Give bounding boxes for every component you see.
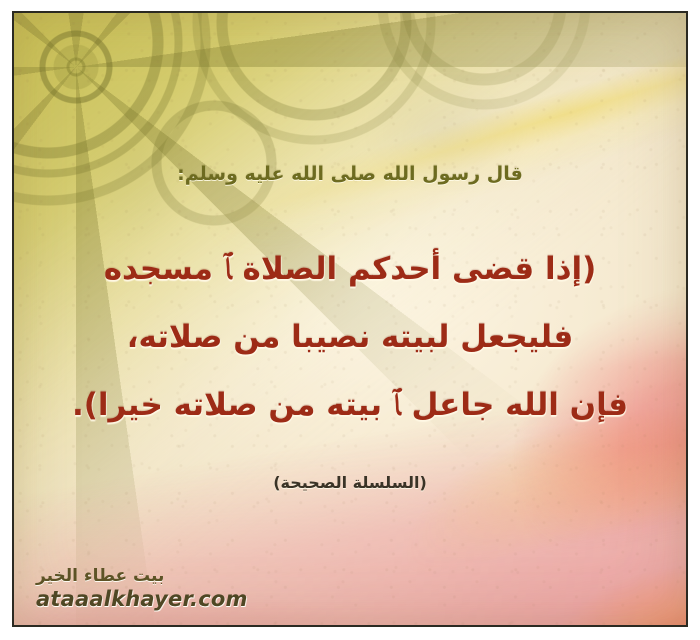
hadith-quote-line: (إذا قضى أحدكم الصلاة ﭑ مسجده xyxy=(40,235,660,303)
site-url: ataaalkhayer.com xyxy=(36,587,248,611)
site-branding: بيت عطاء الخير ataaalkhayer.com xyxy=(36,565,248,611)
card-frame: قال رسول الله صلى الله عليه وسلم: (إذا ق… xyxy=(12,11,688,627)
site-name-arabic: بيت عطاء الخير xyxy=(36,565,248,587)
hadith-quote-line: فليجعل لبيته نصيبا من صلاته، xyxy=(40,303,660,371)
card-content: قال رسول الله صلى الله عليه وسلم: (إذا ق… xyxy=(14,13,686,625)
hadith-quote: (إذا قضى أحدكم الصلاة ﭑ مسجده فليجعل لبي… xyxy=(40,235,660,439)
hadith-quote-line: فإن الله جاعل ﭑ بيته من صلاته خيرا). xyxy=(40,371,660,439)
hadith-source-reference: (السلسلة الصحيحة) xyxy=(14,473,686,492)
hadith-card: قال رسول الله صلى الله عليه وسلم: (إذا ق… xyxy=(0,0,700,640)
hadith-intro-line: قال رسول الله صلى الله عليه وسلم: xyxy=(14,163,686,187)
